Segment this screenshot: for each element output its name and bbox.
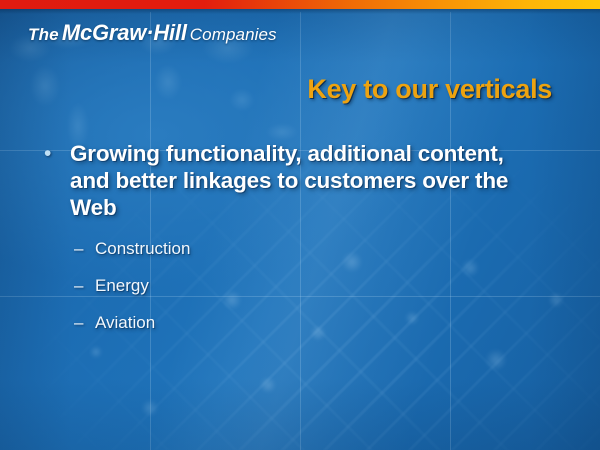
sub-bullet-marker-dash: –	[74, 312, 95, 334]
presentation-slide: TheMcGraw·HillCompanies Key to our verti…	[0, 0, 600, 450]
logo-word-the: The	[28, 25, 59, 44]
sub-bullet-marker-dash: –	[74, 238, 95, 260]
slide-body: • Growing functionality, additional cont…	[42, 140, 542, 349]
sub-bullet-aviation: – Aviation	[74, 312, 542, 334]
sub-bullet-text: Energy	[95, 275, 542, 297]
logo-word-mcgrawhill: McGraw·Hill	[62, 20, 187, 45]
bullet-level1-text: Growing functionality, additional conten…	[70, 140, 542, 221]
top-accent-bar-shadow	[0, 9, 600, 14]
mcgraw-hill-logo: TheMcGraw·HillCompanies	[28, 22, 277, 44]
logo-word-companies: Companies	[190, 25, 277, 44]
sub-bullet-list: – Construction – Energy – Aviation	[42, 238, 542, 334]
sub-bullet-text: Construction	[95, 238, 542, 260]
top-accent-bar	[0, 0, 600, 9]
bullet-level1: • Growing functionality, additional cont…	[42, 140, 542, 221]
slide-title: Key to our verticals	[307, 74, 552, 105]
sub-bullet-construction: – Construction	[74, 238, 542, 260]
sub-bullet-text: Aviation	[95, 312, 542, 334]
sub-bullet-marker-dash: –	[74, 275, 95, 297]
sub-bullet-energy: – Energy	[74, 275, 542, 297]
bullet-marker-dot: •	[42, 140, 70, 168]
